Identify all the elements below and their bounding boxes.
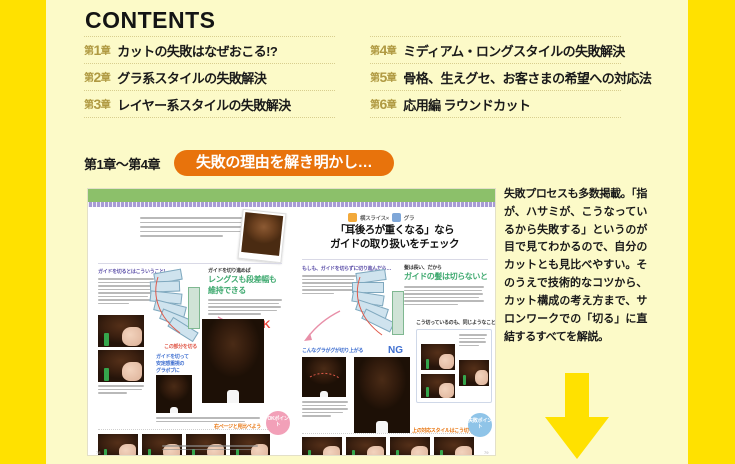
gra-badge-icon	[392, 213, 401, 222]
right-note-copy	[459, 334, 487, 348]
headline-line-1: 「耳後ろが重くなる」なら	[292, 224, 496, 238]
right-note-photo-3	[459, 360, 489, 386]
left-photo-step-1	[98, 315, 144, 347]
left-edge-bar	[0, 0, 46, 464]
chapter-title-6: 応用編 ラウンドカット	[403, 95, 530, 114]
toc-item-chapter-1[interactable]: 第1章 カットの失敗はなぜおこる!?	[84, 36, 335, 63]
chapter-label-1: 第1章	[84, 42, 110, 58]
left-ok-point-stamp: OKポイント	[266, 411, 290, 435]
left-green-subhead-1: レングスも段差幅も	[208, 275, 292, 285]
right-note-photo-2	[421, 374, 455, 398]
left-body-copy	[98, 278, 154, 306]
left-photo-step-2	[98, 350, 144, 382]
right-body-copy-2	[404, 286, 484, 307]
left-slice-diagram	[148, 269, 208, 339]
right-edge-bar	[688, 0, 735, 464]
right-strip-photo-1	[302, 437, 342, 456]
chapter-range-banner: 第1章〜第4章 失敗の理由を解き明かし…	[84, 150, 394, 176]
left-cut-note: この部分を切る	[164, 343, 197, 350]
right-strip-photo-4	[434, 437, 474, 456]
chapter-label-6: 第6章	[370, 96, 396, 112]
right-page-number: 79	[484, 450, 488, 455]
headline-line-2: ガイドの取り扱いをチェック	[292, 238, 496, 252]
right-ng-mark: NG	[388, 345, 403, 356]
left-strip-caption	[162, 445, 258, 452]
right-photo-ng-result	[354, 357, 410, 433]
left-photo-mid	[156, 375, 192, 413]
chapter-range-label: 第1章〜第4章	[84, 154, 160, 173]
scroll-down-arrow	[541, 373, 613, 459]
right-photo-ng-detail	[302, 357, 346, 397]
toc-item-chapter-5[interactable]: 第5章 骨格、生えグセ、お客さまの希望への対応法	[370, 63, 621, 90]
chapter-label-2: 第2章	[84, 69, 110, 85]
gra-badge-label: グラ	[404, 214, 414, 222]
chapter-title-2: グラ系スタイルの失敗解決	[117, 68, 266, 87]
right-ng-caption: こんなグラがグが切り上がる	[302, 347, 363, 354]
head-photo-image	[241, 212, 283, 256]
slice-badge-icon	[348, 213, 357, 222]
right-divider-1	[302, 259, 488, 260]
headline-badge-row: 横スライス× グラ	[348, 213, 414, 222]
left-page-number: 78	[96, 450, 100, 455]
left-blue-note: ガイドを切って 安定感重視の グラボブに	[156, 353, 189, 374]
spread-green-header	[88, 189, 495, 202]
right-note-box	[416, 329, 492, 403]
left-strip-photo-1	[98, 434, 138, 456]
right-green-subhead: ガイドの髪は切らないと	[404, 272, 496, 282]
chapter-label-4: 第4章	[370, 42, 396, 58]
chapter-title-4: ミディアム・ロングスタイルの失敗解決	[403, 41, 624, 60]
right-pink-arrow	[300, 307, 344, 343]
chapter-label-5: 第5章	[370, 69, 396, 85]
right-note-heading: こう切っているのも、同じようなことが起きているから	[416, 319, 496, 326]
left-green-subhead-2: 維持できる	[208, 286, 292, 296]
right-guide-curve	[348, 269, 410, 341]
spread-left-page: ガイドを切るとはこういうこと! ガイドを切り進めば レングスも段差幅も 維持でき…	[88, 207, 292, 456]
toc-item-chapter-4[interactable]: 第4章 ミディアム・ロングスタイルの失敗解決	[370, 36, 621, 63]
right-strip-photo-3	[390, 437, 430, 456]
toc-item-chapter-6[interactable]: 第6章 応用編 ラウンドカット	[370, 90, 621, 118]
right-ng-caption-copy	[302, 401, 348, 419]
left-guide-curve	[148, 269, 208, 339]
left-divider-1	[98, 263, 282, 264]
left-body-copy-2	[208, 299, 282, 317]
right-note-photo-1	[421, 344, 455, 370]
chapter-title-1: カットの失敗はなぜおこる!?	[117, 41, 277, 60]
chapter-label-3: 第3章	[84, 96, 110, 112]
table-of-contents: 第1章 カットの失敗はなぜおこる!? 第2章 グラ系スタイルの失敗解決 第3章 …	[84, 36, 656, 118]
right-strip-photo-2	[346, 437, 386, 456]
polaroid-head-photo	[238, 209, 287, 263]
toc-item-chapter-2[interactable]: 第2章 グラ系スタイルの失敗解決	[84, 63, 335, 90]
page-title: CONTENTS	[85, 7, 216, 34]
toc-column-2: 第4章 ミディアム・ロングスタイルの失敗解決 第5章 骨格、生えグセ、お客さまの…	[370, 36, 621, 118]
slice-badge-label: 横スライス×	[360, 214, 389, 222]
toc-item-chapter-3[interactable]: 第3章 レイヤー系スタイルの失敗解決	[84, 90, 335, 118]
content-stage: CONTENTS 第1章 カットの失敗はなぜおこる!? 第2章 グラ系スタイルの…	[46, 0, 688, 464]
banner-pill: 失敗の理由を解き明かし…	[174, 150, 394, 176]
spread-right-page: 横スライス× グラ 「耳後ろが重くなる」なら ガイドの取り扱いをチェック もしも…	[292, 207, 496, 456]
toc-column-1: 第1章 カットの失敗はなぜおこる!? 第2章 グラ系スタイルの失敗解決 第3章 …	[84, 36, 335, 118]
left-photo-caption	[98, 385, 144, 396]
left-small-subhead: ガイドを切り進めば	[208, 267, 250, 274]
description-text: 失敗プロセスも多数掲載。「指が、ハサミが、こうなっているから失敗する」というのが…	[504, 186, 647, 346]
book-spread-preview[interactable]: ガイドを切るとはこういうこと! ガイドを切り進めば レングスも段差幅も 維持でき…	[87, 188, 496, 456]
chapter-title-3: レイヤー系スタイルの失敗解決	[117, 95, 290, 114]
right-fail-point-stamp: 失敗ポイント	[468, 413, 492, 437]
right-slice-diagram	[348, 269, 410, 341]
left-photo-result-ok	[202, 319, 264, 403]
left-strip-heading: 右ページと見比べよう	[214, 423, 261, 430]
chapter-title-5: 骨格、生えグセ、お客さまの希望への対応法	[403, 68, 651, 87]
